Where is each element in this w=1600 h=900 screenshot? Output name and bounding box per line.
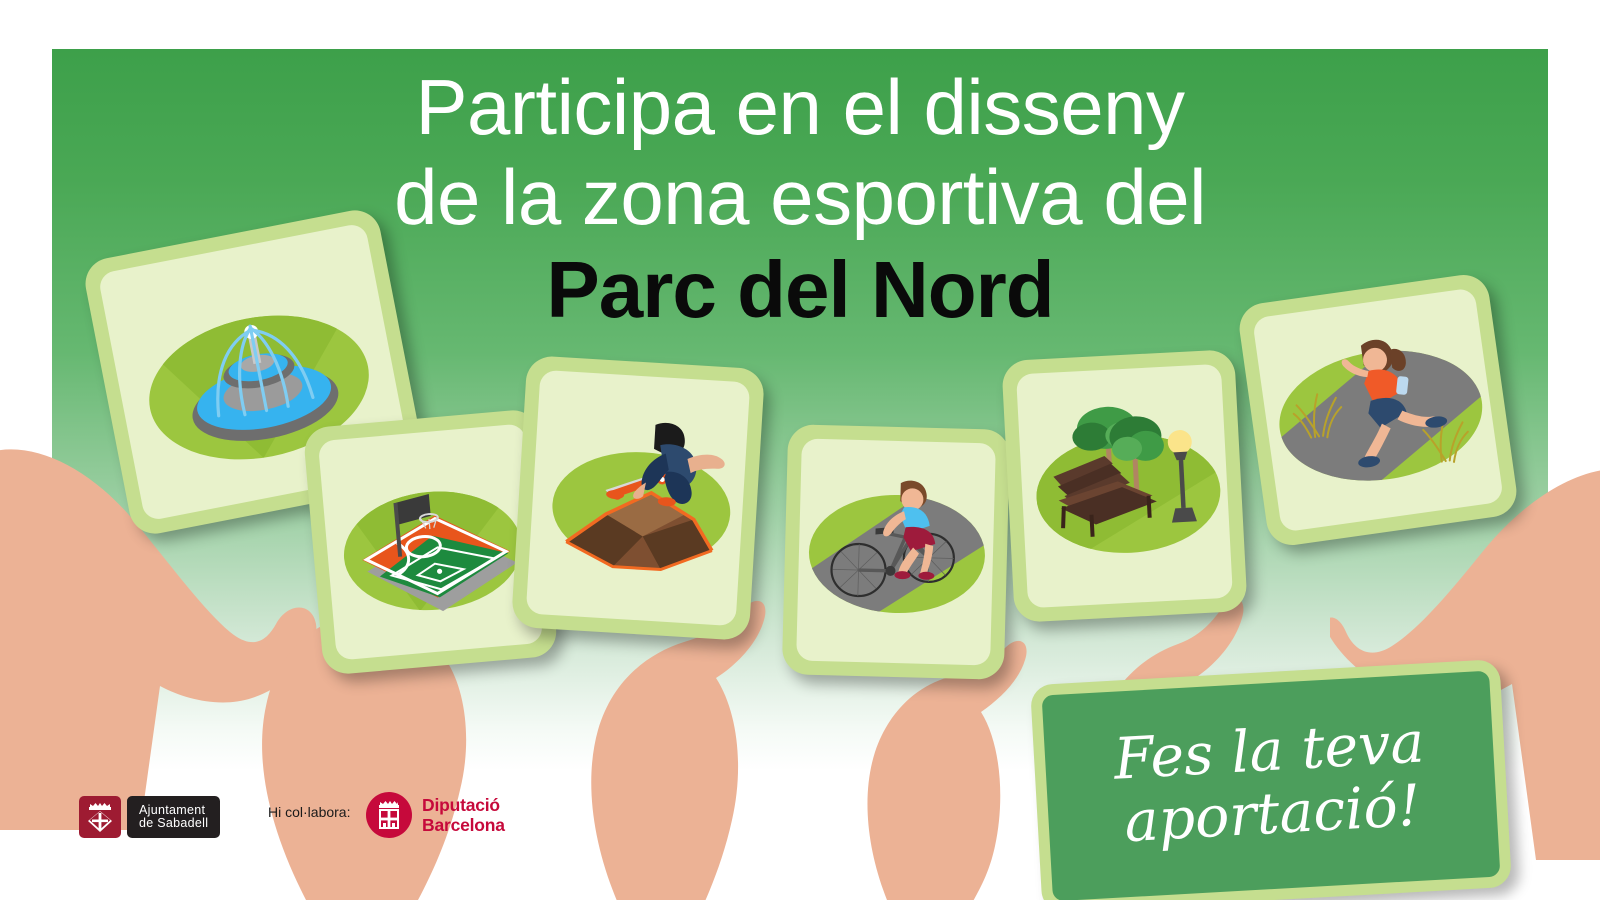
sabadell-shield-icon (79, 796, 121, 838)
card-court-face (318, 423, 543, 660)
sabadell-line-2: de Sabadell (139, 817, 208, 830)
logo-diputacio-barcelona[interactable]: Diputació Barcelona (366, 792, 505, 838)
collaborates-label: Hi col·labora: (268, 804, 350, 820)
diputacio-line-2: Barcelona (422, 815, 505, 835)
diputacio-name-block: Diputació Barcelona (422, 795, 505, 835)
park-bench-icon (1025, 380, 1233, 580)
card-bench[interactable] (1001, 349, 1247, 623)
poster-root: Participa en el disseny de la zona espor… (0, 0, 1600, 900)
footer-logos: Ajuntament de Sabadell Hi col·labora: (0, 780, 1600, 900)
skateboard-ramp-icon (540, 391, 750, 593)
cyclist-icon (811, 465, 985, 629)
card-runner-face (1252, 287, 1504, 532)
card-bike-face (796, 438, 996, 665)
logo-ajuntament-sabadell[interactable]: Ajuntament de Sabadell (79, 796, 220, 838)
card-bench-face (1016, 364, 1233, 608)
sports-court-icon (330, 446, 535, 642)
card-bike[interactable] (782, 424, 1010, 680)
card-skate-face (526, 370, 751, 626)
diputacio-line-1: Diputació (422, 795, 505, 815)
runner-icon (1265, 310, 1497, 508)
diputacio-crest-icon (366, 792, 412, 838)
card-runner[interactable] (1236, 272, 1520, 549)
sabadell-name-block: Ajuntament de Sabadell (127, 796, 220, 838)
card-skate[interactable] (511, 355, 765, 641)
